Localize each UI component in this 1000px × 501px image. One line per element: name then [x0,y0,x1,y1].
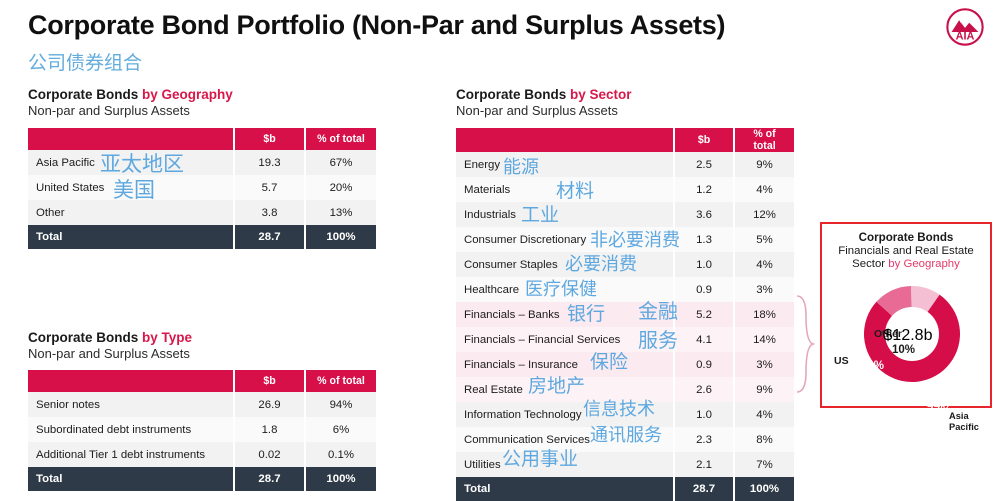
row-pct: 4% [734,252,794,277]
row-label: Materials [456,177,674,202]
table-row: Materials1.24% [456,177,794,202]
row-sb: 0.02 [234,442,305,467]
col-header-pct: % of total [305,370,376,392]
row-sb: 1.0 [674,402,734,427]
donut-value-other: 10% [892,344,915,356]
table-row: Consumer Discretionary1.35% [456,227,794,252]
table-row: Asia Pacific 19.3 67% [28,150,376,175]
geography-heading: Corporate Bonds by Geography Non-par and… [28,87,233,118]
row-pct: 6% [305,417,376,442]
type-heading-sub: Non-par and Surplus Assets [28,346,192,361]
donut-title-line2: Financials and Real Estate [822,245,990,259]
row-sb: 0.9 [674,277,734,302]
total-sb: 28.7 [234,467,305,491]
sector-heading-accent: by Sector [570,87,632,102]
row-sb: 1.2 [674,177,734,202]
table-row: Communication Services2.38% [456,427,794,452]
row-sb: 19.3 [234,150,305,175]
type-heading: Corporate Bonds by Type Non-par and Surp… [28,330,192,361]
row-sb: 3.8 [234,200,305,225]
table-row: Utilities2.17% [456,452,794,477]
row-sb: 26.9 [234,392,305,417]
col-header-pct: % of total [734,128,794,152]
geography-table: $b % of total Asia Pacific 19.3 67% Unit… [28,128,376,249]
geography-heading-main: Corporate Bonds [28,87,138,102]
row-label: Additional Tier 1 debt instruments [28,442,234,467]
row-label: Communication Services [456,427,674,452]
row-pct: 18% [734,302,794,327]
type-table: $b % of total Senior notes 26.9 94% Subo… [28,370,376,491]
table-row: Energy2.59% [456,152,794,177]
table-row: Other 3.8 13% [28,200,376,225]
row-label: Consumer Staples [456,252,674,277]
row-pct: 8% [734,427,794,452]
row-label: Industrials [456,202,674,227]
page-subtitle-chinese: 公司债券组合 [28,48,142,75]
row-pct: 3% [734,352,794,377]
col-header-label [28,128,234,150]
table-row: Information Technology1.04% [456,402,794,427]
row-label: Financials – Banks [456,302,674,327]
aia-logo: AIA [944,6,986,48]
table-row: Industrials3.612% [456,202,794,227]
table-row: Subordinated debt instruments 1.8 6% [28,417,376,442]
row-pct: 7% [734,452,794,477]
financials-grouping-brace [795,294,815,394]
table-row: Real Estate2.69% [456,377,794,402]
row-pct: 13% [305,200,376,225]
row-sb: 0.9 [674,352,734,377]
row-pct: 94% [305,392,376,417]
sector-heading-sub: Non-par and Surplus Assets [456,103,632,118]
row-pct: 12% [734,202,794,227]
row-pct: 67% [305,150,376,175]
donut-label-us: US [834,355,849,367]
col-header-sb: $b [234,128,305,150]
row-pct: 9% [734,377,794,402]
table-row: Financials – Insurance0.93% [456,352,794,377]
row-sb: 4.1 [674,327,734,352]
type-heading-main: Corporate Bonds [28,330,138,345]
table-header-row: $b % of total [28,128,376,150]
donut-center-value: $12.8b [822,327,994,345]
table-row: United States 5.7 20% [28,175,376,200]
total-pct: 100% [734,477,794,501]
row-label: Asia Pacific [28,150,234,175]
total-label: Total [28,467,234,491]
page-title: Corporate Bond Portfolio (Non-Par and Su… [28,10,725,41]
row-sb: 1.8 [234,417,305,442]
table-header-row: $b % of total [28,370,376,392]
row-pct: 5% [734,227,794,252]
row-sb: 2.5 [674,152,734,177]
row-label: Information Technology [456,402,674,427]
col-header-sb: $b [674,128,734,152]
donut-value-asia-pacific: 77% [927,403,951,417]
table-row: Healthcare0.93% [456,277,794,302]
col-header-pct: % of total [305,128,376,150]
row-label: Utilities [456,452,674,477]
row-pct: 20% [305,175,376,200]
row-label: Senior notes [28,392,234,417]
sector-heading-main: Corporate Bonds [456,87,566,102]
table-total-row: Total28.7100% [456,477,794,501]
row-sb: 5.7 [234,175,305,200]
total-label: Total [456,477,674,501]
col-header-label [28,370,234,392]
row-sb: 1.0 [674,252,734,277]
donut-value-us: 13% [861,360,884,372]
table-row: Additional Tier 1 debt instruments 0.02 … [28,442,376,467]
table-row: Senior notes 26.9 94% [28,392,376,417]
total-pct: 100% [305,225,376,249]
table-row: Financials – Banks5.218% [456,302,794,327]
slide-root: Corporate Bond Portfolio (Non-Par and Su… [0,0,1000,501]
table-row: Consumer Staples1.04% [456,252,794,277]
geography-heading-sub: Non-par and Surplus Assets [28,103,233,118]
row-sb: 2.3 [674,427,734,452]
geography-heading-accent: by Geography [142,87,233,102]
total-pct: 100% [305,467,376,491]
row-pct: 4% [734,177,794,202]
type-heading-accent: by Type [142,330,192,345]
sector-table: $b % of total Energy2.59%Materials1.24%I… [456,128,794,501]
row-sb: 1.3 [674,227,734,252]
row-label: Healthcare [456,277,674,302]
row-label: Energy [456,152,674,177]
row-label: United States [28,175,234,200]
row-pct: 3% [734,277,794,302]
table-row: Financials – Financial Services4.114% [456,327,794,352]
row-pct: 4% [734,402,794,427]
table-total-row: Total 28.7 100% [28,467,376,491]
row-label: Financials – Insurance [456,352,674,377]
donut-panel-title: Corporate Bonds Financials and Real Esta… [822,231,990,272]
row-label: Subordinated debt instruments [28,417,234,442]
row-pct: 0.1% [305,442,376,467]
donut-title-line3-accent: by Geography [888,258,960,270]
row-pct: 14% [734,327,794,352]
donut-label-asia-pacific: AsiaPacific [949,411,979,433]
row-pct: 9% [734,152,794,177]
donut-title-line3-main: Sector [852,258,888,270]
row-sb: 2.6 [674,377,734,402]
table-total-row: Total 28.7 100% [28,225,376,249]
table-header-row: $b % of total [456,128,794,152]
row-label: Real Estate [456,377,674,402]
total-sb: 28.7 [674,477,734,501]
col-header-sb: $b [234,370,305,392]
row-sb: 3.6 [674,202,734,227]
col-header-label [456,128,674,152]
svg-text:AIA: AIA [956,31,975,43]
row-label: Consumer Discretionary [456,227,674,252]
row-sb: 5.2 [674,302,734,327]
row-label: Other [28,200,234,225]
donut-title-line1: Corporate Bonds [822,231,990,245]
total-sb: 28.7 [234,225,305,249]
sector-heading: Corporate Bonds by Sector Non-par and Su… [456,87,632,118]
donut-chart: Other US 10% 13% 77% AsiaPacific $12.8b [822,272,994,400]
total-label: Total [28,225,234,249]
row-label: Financials – Financial Services [456,327,674,352]
row-sb: 2.1 [674,452,734,477]
donut-chart-panel: Corporate Bonds Financials and Real Esta… [820,222,992,408]
